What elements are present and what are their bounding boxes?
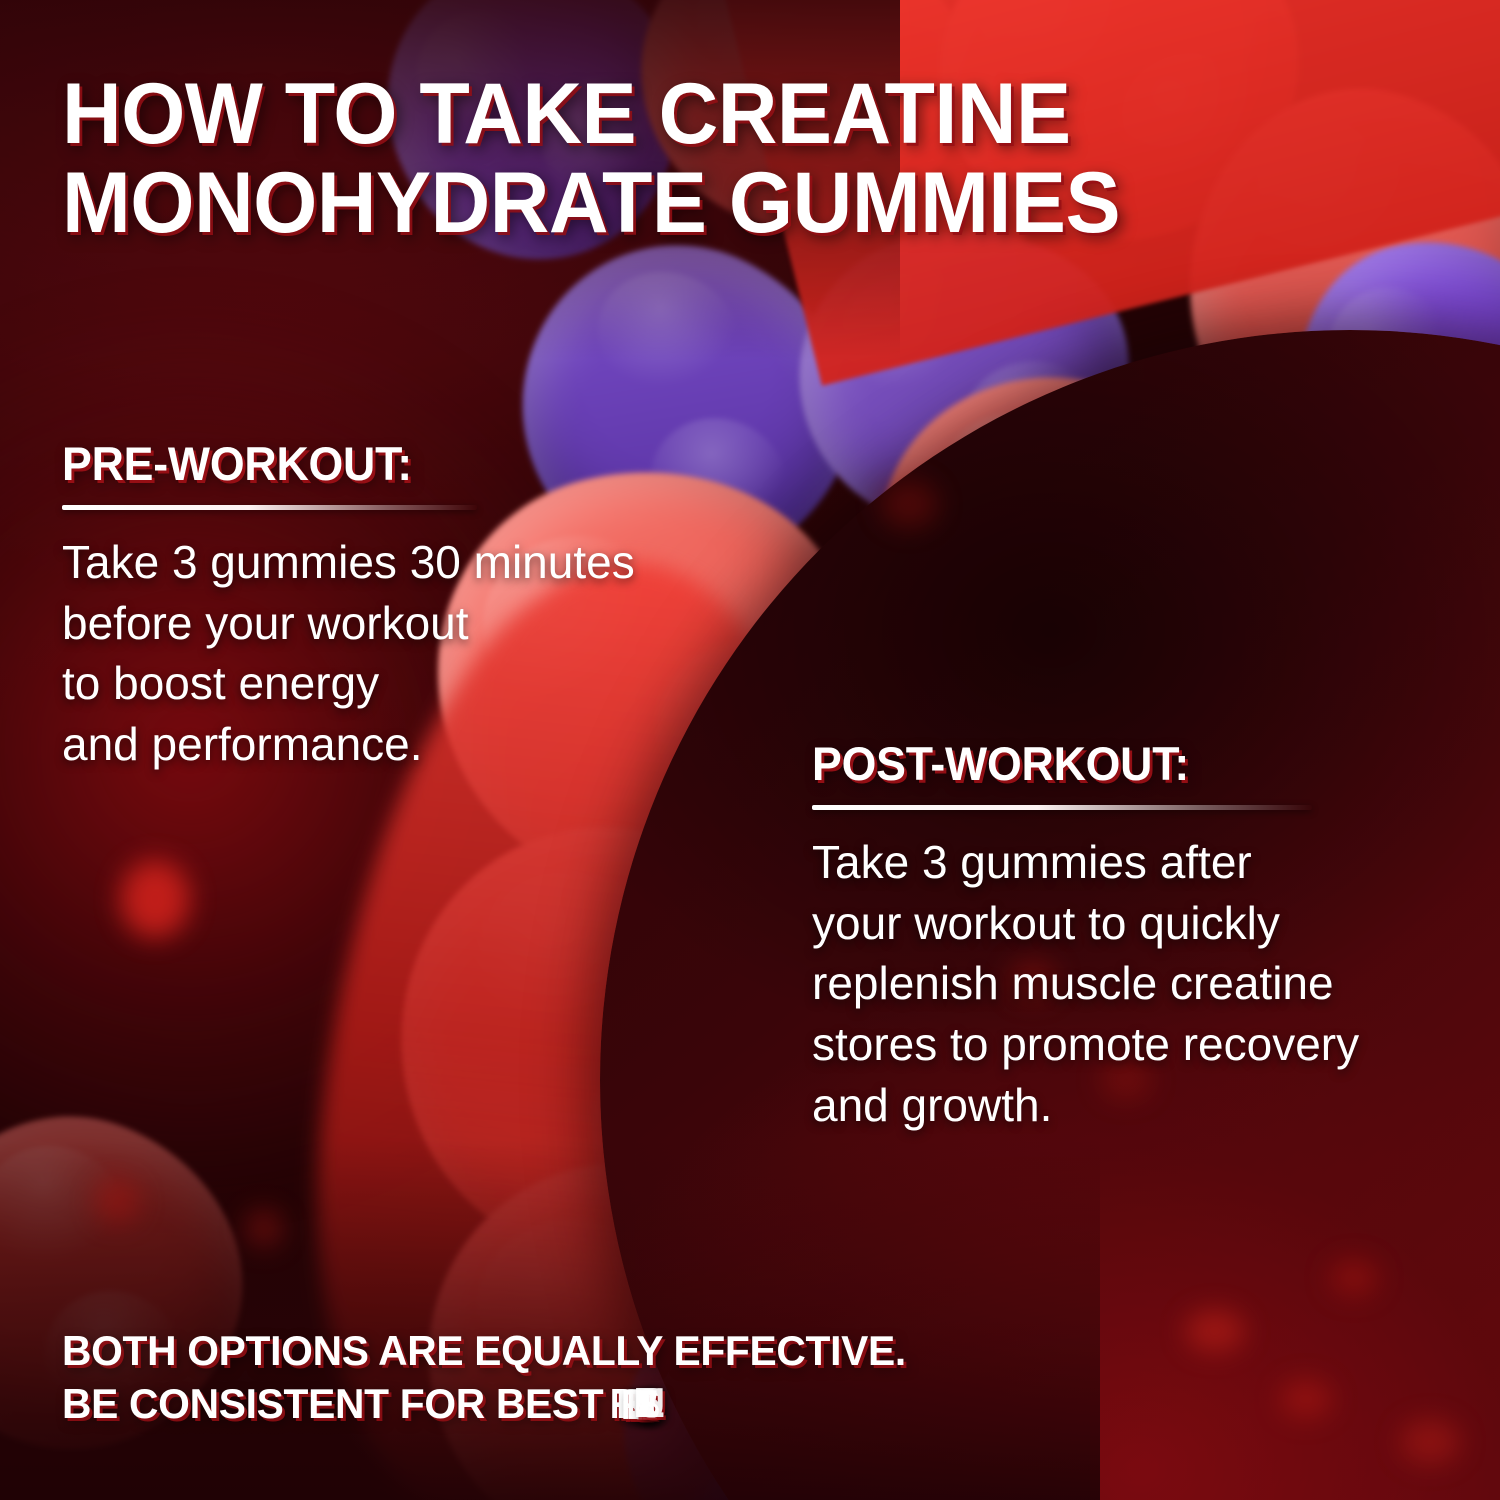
post-workout-body-line: Take 3 gummies after [812, 832, 1492, 893]
page-title: HOW TO TAKE CREATINE MONOHYDRATE GUMMIES [62, 70, 1406, 247]
post-workout-body-line: and growth. [812, 1075, 1492, 1136]
section-pre-workout: PRE-WORKOUT: Take 3 gummies 30 minutes b… [62, 436, 782, 775]
pre-workout-body-line: Take 3 gummies 30 minutes [62, 532, 782, 593]
footer-glitched-word: RESULTSRESULTSRESULTS [611, 1378, 642, 1431]
footer-line-1: BOTH OPTIONS ARE EQUALLY EFFECTIVE. [62, 1325, 1439, 1378]
post-workout-body: Take 3 gummies after your workout to qui… [812, 832, 1492, 1136]
poster-canvas: HOW TO TAKE CREATINE MONOHYDRATE GUMMIES… [0, 0, 1500, 1500]
pre-workout-heading: PRE-WORKOUT: [62, 436, 746, 491]
post-workout-divider [812, 805, 1312, 810]
post-workout-heading: POST-WORKOUT: [812, 736, 1458, 791]
footer-statement: BOTH OPTIONS ARE EQUALLY EFFECTIVE. BE C… [62, 1325, 1439, 1430]
footer-line-2: BE CONSISTENT FOR BEST RESULTSRESULTSRES… [62, 1378, 1439, 1431]
post-workout-body-line: replenish muscle creatine [812, 953, 1492, 1014]
title-line-2: MONOHYDRATE GUMMIES [62, 159, 1406, 248]
post-workout-body-line: your workout to quickly [812, 893, 1492, 954]
title-line-1: HOW TO TAKE CREATINE [62, 70, 1406, 159]
footer-line-2-prefix: BE CONSISTENT FOR BEST [62, 1380, 614, 1427]
pre-workout-body: Take 3 gummies 30 minutes before your wo… [62, 532, 782, 775]
pre-workout-divider [62, 505, 477, 510]
glitch-layer-3: RESULTS [634, 1377, 643, 1430]
post-workout-body-line: stores to promote recovery [812, 1014, 1492, 1075]
text-layer: HOW TO TAKE CREATINE MONOHYDRATE GUMMIES… [0, 0, 1500, 1500]
pre-workout-body-line: to boost energy [62, 653, 782, 714]
pre-workout-body-line: before your workout [62, 593, 782, 654]
pre-workout-body-line: and performance. [62, 714, 782, 775]
section-post-workout: POST-WORKOUT: Take 3 gummies after your … [812, 736, 1492, 1136]
